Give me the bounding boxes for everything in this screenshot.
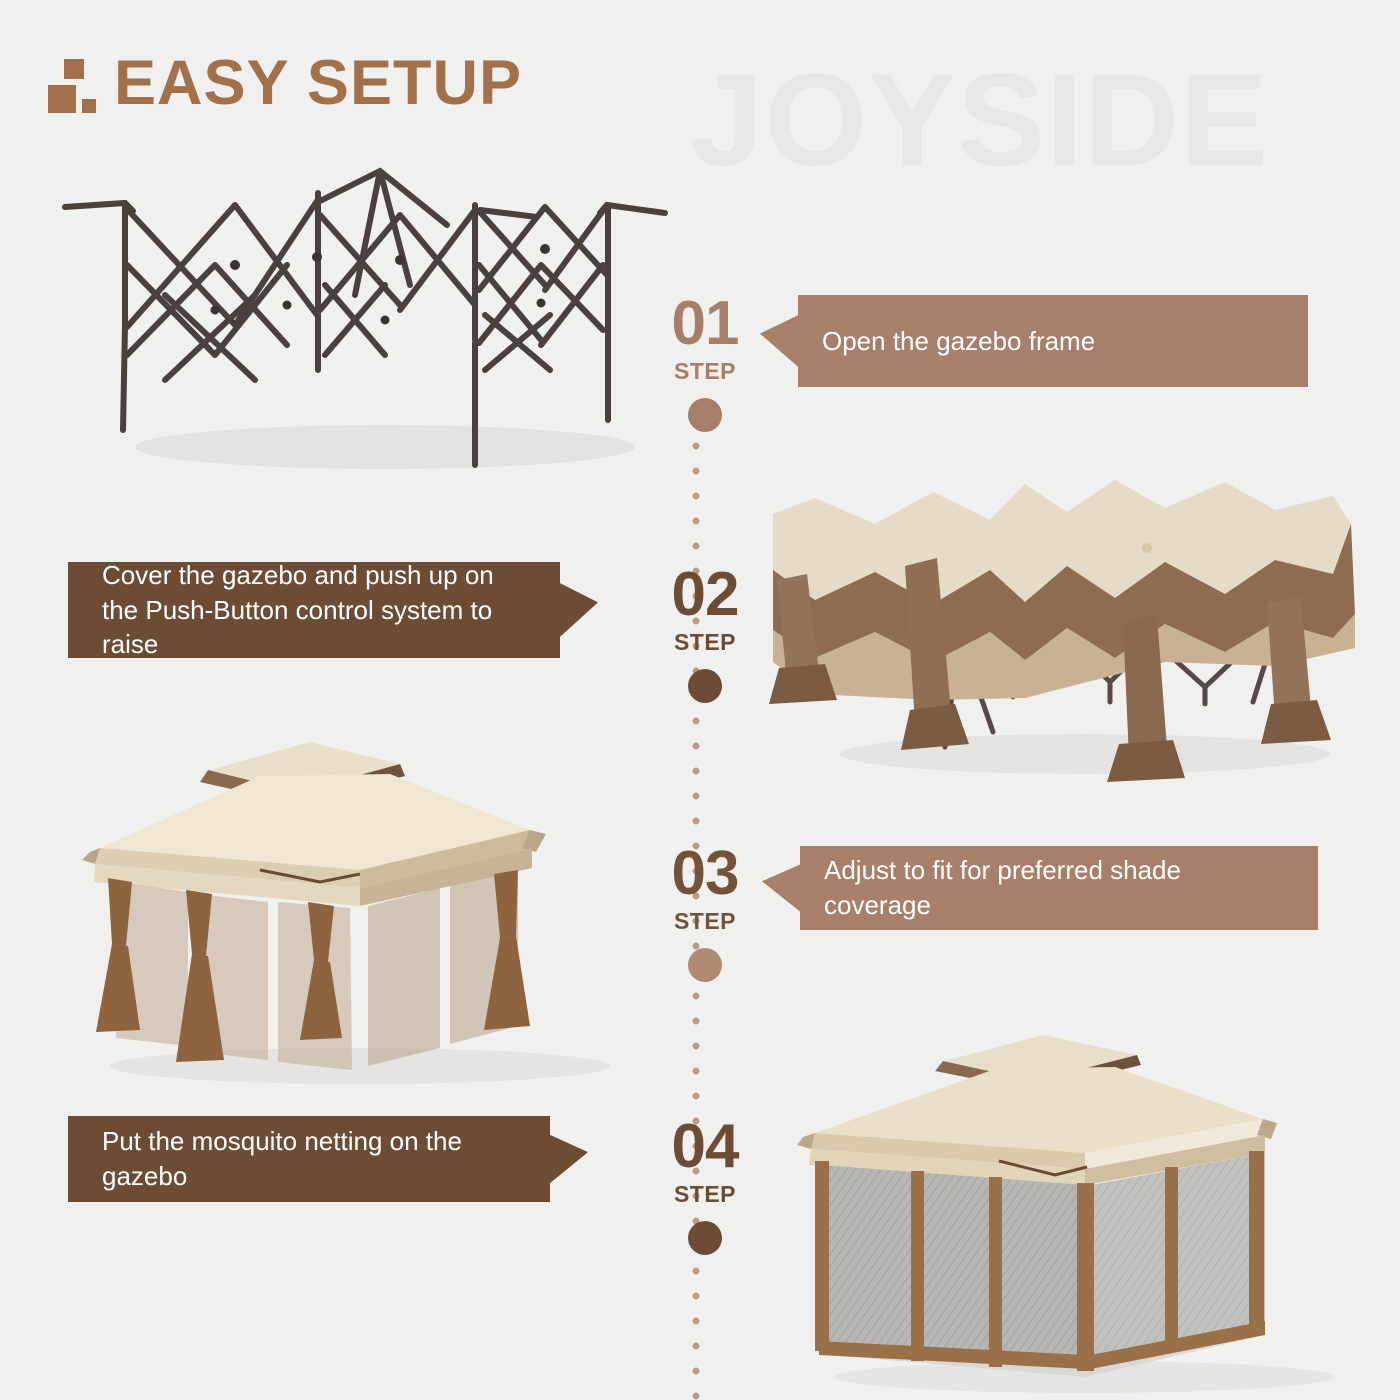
callout-text: Adjust to fit for preferred shade covera… — [824, 853, 1284, 922]
gazebo-netting-photo — [785, 1025, 1375, 1400]
step-number: 03 — [640, 845, 770, 904]
step-marker-dot — [688, 1221, 722, 1255]
infographic-page: JOYSIDE EASY SETUP — [0, 0, 1400, 1400]
step-block-03: 03 STEP — [640, 845, 770, 982]
callout-step-01[interactable]: Open the gazebo frame — [760, 295, 1308, 387]
step-number: 04 — [640, 1118, 770, 1177]
step-label: STEP — [640, 908, 770, 935]
step-block-04: 04 STEP — [640, 1118, 770, 1255]
step-marker-dot — [688, 948, 722, 982]
callout-step-02[interactable]: Cover the gazebo and push up on the Push… — [68, 562, 598, 658]
three-squares-icon — [48, 55, 100, 113]
callout-step-04[interactable]: Put the mosquito netting on the gazebo — [68, 1116, 588, 1202]
step-label: STEP — [640, 629, 770, 656]
step-label: STEP — [640, 1181, 770, 1208]
gazebo-frame-photo — [55, 165, 675, 475]
gazebo-raised-photo — [60, 730, 640, 1090]
brand-watermark: JOYSIDE — [690, 44, 1269, 195]
step-number: 02 — [640, 566, 770, 625]
step-number: 01 — [640, 295, 770, 354]
callout-text: Put the mosquito netting on the gazebo — [102, 1124, 526, 1193]
callout-step-03[interactable]: Adjust to fit for preferred shade covera… — [762, 846, 1318, 930]
callout-text: Cover the gazebo and push up on the Push… — [102, 558, 536, 662]
step-marker-dot — [688, 669, 722, 703]
callout-text: Open the gazebo frame — [822, 324, 1095, 359]
step-marker-dot — [688, 398, 722, 432]
page-title: EASY SETUP — [114, 52, 522, 115]
step-label: STEP — [640, 358, 770, 385]
step-block-01: 01 STEP — [640, 295, 770, 432]
step-block-02: 02 STEP — [640, 566, 770, 703]
page-header: EASY SETUP — [48, 52, 522, 115]
gazebo-covered-photo — [755, 462, 1365, 787]
